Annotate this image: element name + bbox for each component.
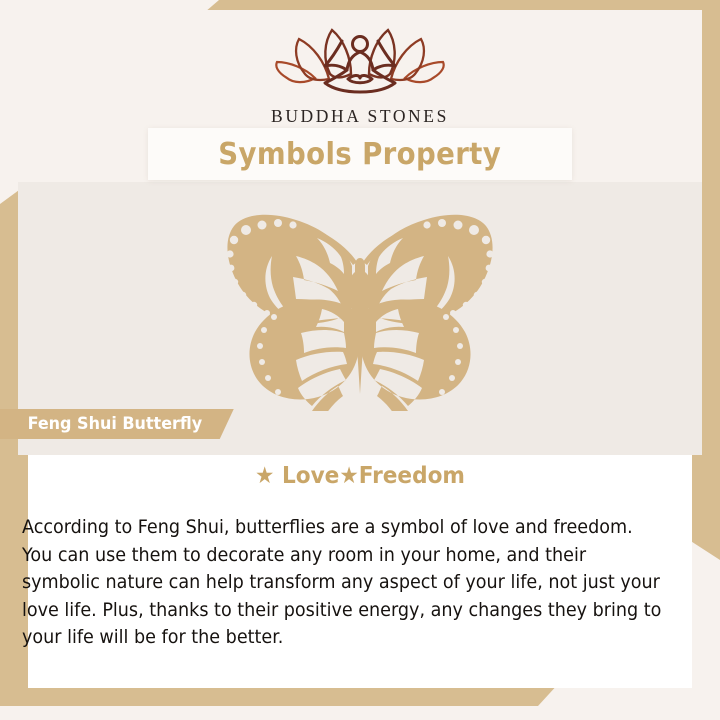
lotus-meditation-icon: [0, 22, 720, 105]
brand-name: BUDDHA STONES: [0, 106, 720, 127]
tag-label: Feng Shui Butterfly: [28, 414, 203, 434]
butterfly-icon: [186, 206, 534, 411]
description-paragraph: According to Feng Shui, butterflies are …: [22, 514, 668, 652]
brand-header: BUDDHA STONES: [0, 22, 720, 127]
page-title: Symbols Property: [219, 137, 502, 172]
subheading: ★ Love★Freedom: [22, 463, 699, 489]
product-info-card: BUDDHA STONES Symbols Property: [0, 0, 720, 720]
feng-shui-butterfly-tag: Feng Shui Butterfly: [0, 409, 234, 439]
section-title-banner: Symbols Property: [148, 128, 572, 180]
